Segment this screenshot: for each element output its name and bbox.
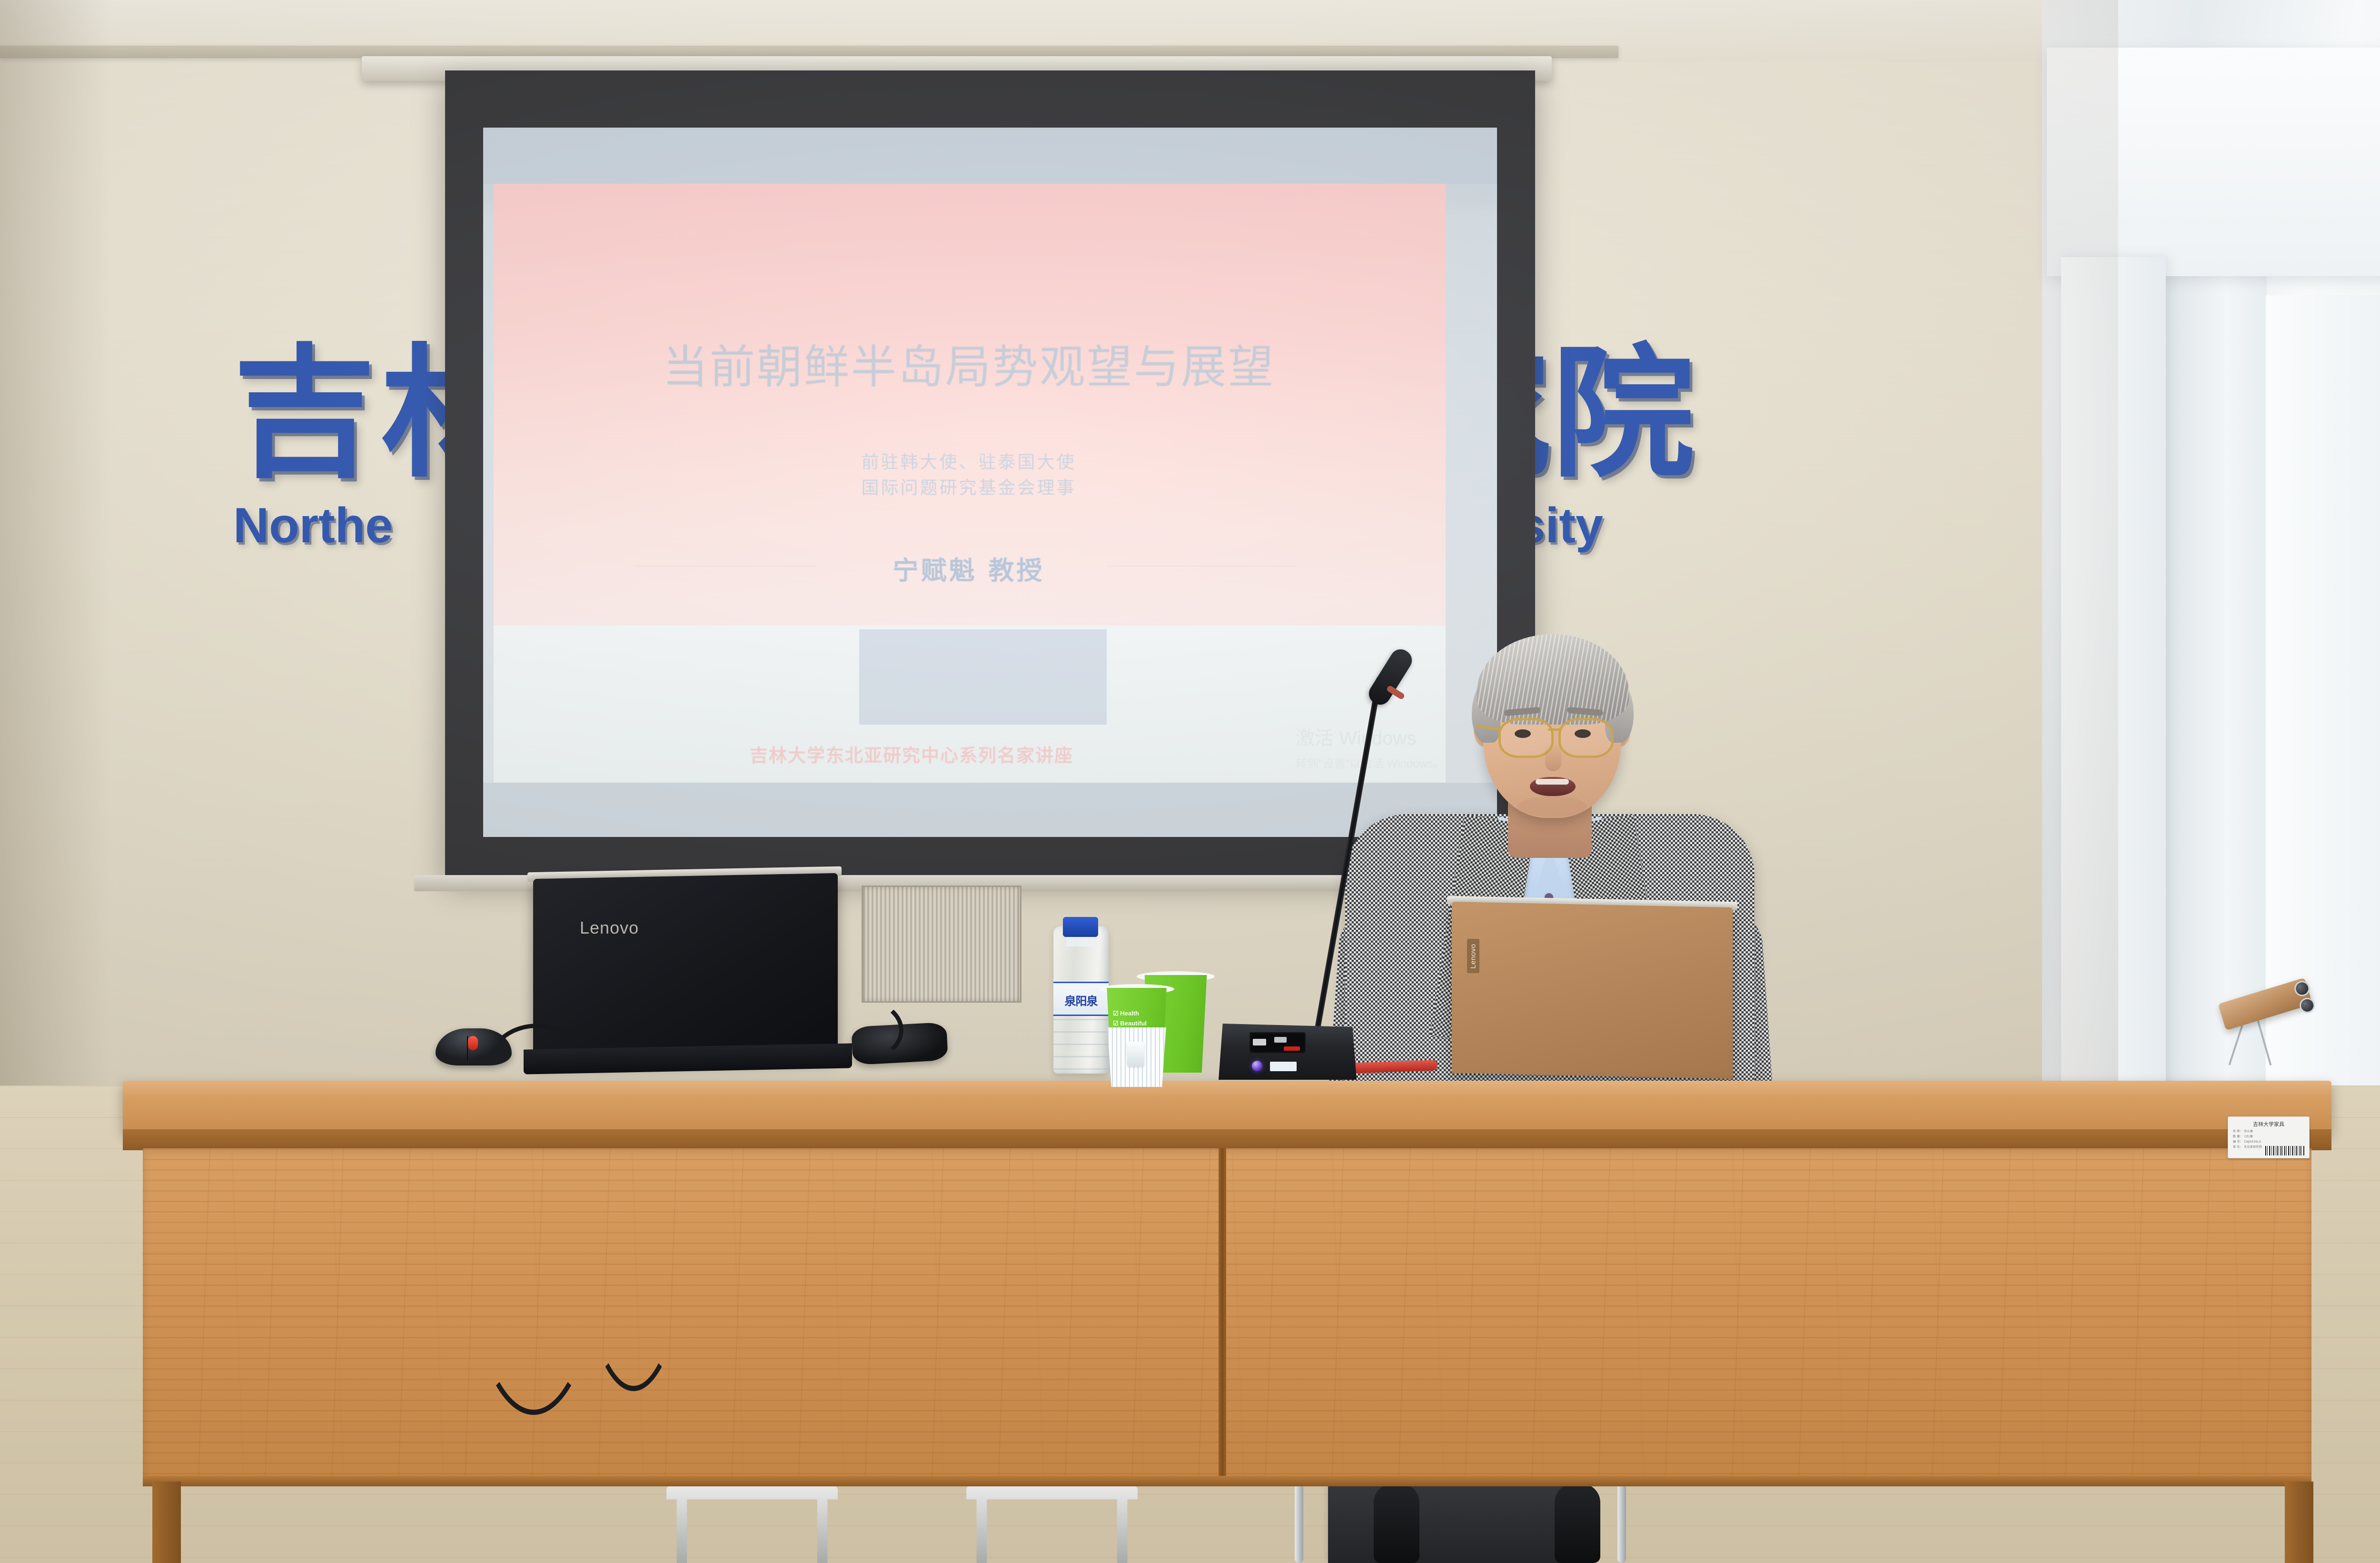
mic-switch-1[interactable]	[1253, 1039, 1266, 1045]
signage-char-1: 吉	[233, 343, 376, 486]
desk-leg-right	[2285, 1482, 2313, 1563]
lecture-hall-photo: 吉 林 究 院 Northe niversity 当前朝鲜半岛局势观望与展望 前…	[0, 0, 2380, 1563]
water-bottle-cap[interactable]	[1063, 917, 1098, 937]
asset-tag-barcode	[2265, 1146, 2305, 1155]
nose	[1545, 745, 1561, 771]
signage-english-left: Northe	[233, 501, 393, 550]
asset-tag-title: 吉林大学家具	[2228, 1120, 2309, 1128]
slide-footer: 吉林大学东北亚研究中心系列名家讲座	[483, 741, 1340, 767]
arch-pillar-left	[2061, 257, 2166, 1095]
cup-slogan-line-1: ☑ Health	[1113, 1008, 1147, 1018]
water-bottle-label: 泉阳泉	[1053, 982, 1109, 1016]
lenovo-logo-text: Lenovo	[580, 918, 639, 938]
lecture-desk-edge	[123, 1129, 2331, 1150]
hair	[1477, 634, 1629, 725]
signage-char-10: 院	[1552, 343, 1695, 486]
arch-inner-gap	[2166, 257, 2267, 1095]
glasses-bridge	[1548, 728, 1560, 731]
asset-tag-row-1: 名 称： 办公桌	[2233, 1129, 2309, 1133]
water-bottle-brand: 泉阳泉	[1053, 992, 1109, 1008]
mouse-scroll-wheel[interactable]	[468, 1036, 478, 1050]
lenovo-logo-badge: Lenovo	[1467, 939, 1479, 973]
lenovo-badge-text: Lenovo	[1469, 944, 1478, 968]
slide-subtitle: 前驻韩大使、驻泰国大使 国际问题研究基金会理事	[483, 449, 1454, 500]
floor-cable-2	[581, 1076, 686, 1391]
microphone-power-led	[1252, 1061, 1262, 1071]
slide-subtitle-line-2: 国际问题研究基金会理事	[483, 475, 1454, 501]
slide-subtitle-line-1: 前驻韩大使、驻泰国大使	[483, 449, 1454, 475]
bronze-laptop-lid[interactable]	[1452, 902, 1733, 1079]
desk-skirt	[143, 1476, 2311, 1486]
asset-tag-row-3: 编 号： CNJ0039LX	[2233, 1139, 2309, 1144]
slide-title: 当前朝鲜半岛局势观望与展望	[483, 330, 1454, 396]
microphone-control-panel[interactable]	[1249, 1032, 1306, 1053]
asset-tag-label: 吉林大学家具 名 称： 办公桌 数 量： 1台/套 编 号： CNJ0039LX…	[2228, 1116, 2310, 1158]
mic-switch-2[interactable]	[1274, 1037, 1287, 1043]
chin	[1517, 796, 1587, 817]
shoe-left	[1374, 1483, 1419, 1563]
microphone-serial-sticker	[1270, 1062, 1297, 1071]
lecture-desk-top	[123, 1081, 2331, 1133]
mic-indicator-red	[1284, 1046, 1300, 1051]
arch-header-panel	[2047, 48, 2380, 276]
laptop-power-cable	[828, 1000, 903, 1061]
desk-panel-seam	[1219, 1148, 1226, 1482]
asset-tag-row-2: 数 量： 1台/套	[2233, 1134, 2309, 1138]
lecture-desk-front-panel	[143, 1148, 2311, 1482]
shoe-right	[1555, 1483, 1600, 1563]
glasses-lens-right	[1558, 718, 1614, 758]
teeth	[1536, 779, 1569, 785]
slide-band-top	[483, 128, 1497, 184]
slide-presenter-name: 宁赋魁 教授	[483, 549, 1454, 587]
wall-shadow-left	[0, 0, 109, 1085]
water-bottle-ribs	[1053, 1019, 1109, 1074]
cup-holder-tab	[1127, 1042, 1144, 1066]
black-laptop-lid[interactable]	[533, 873, 838, 1065]
wall-vent-grille	[862, 886, 1021, 1003]
cup-slogan-line-2: ☑ Beautiful	[1113, 1018, 1147, 1028]
desk-leg-left	[152, 1482, 181, 1563]
slide-logo-placeholder	[859, 629, 1107, 725]
